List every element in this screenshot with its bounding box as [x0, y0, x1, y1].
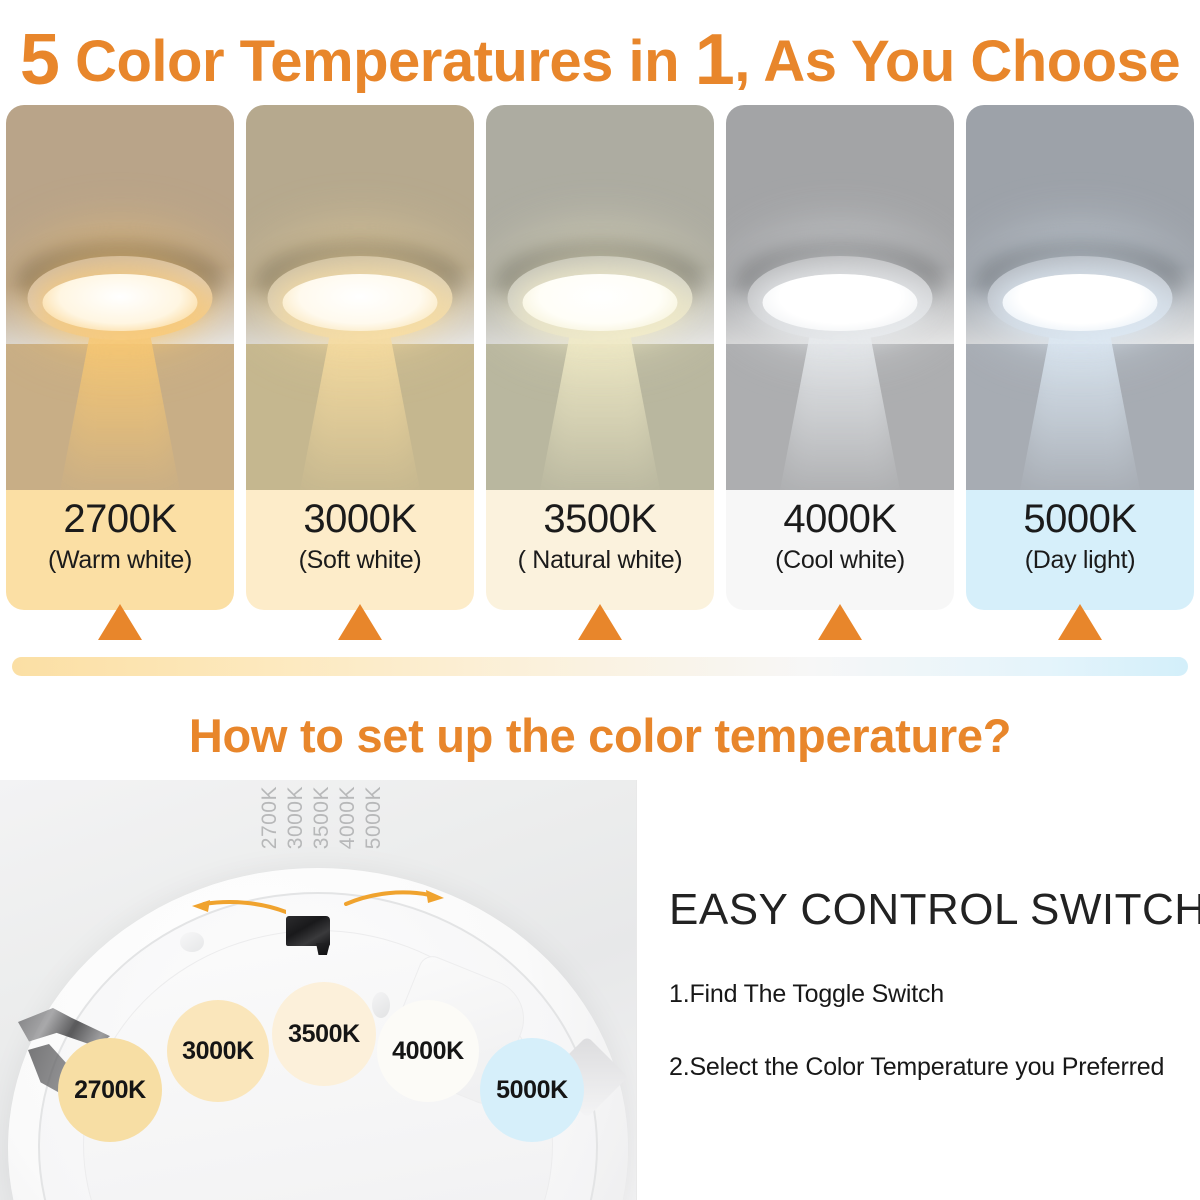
card-label-3000k: 3000K(Soft white): [246, 490, 474, 610]
ceiling-light-fixture: [748, 256, 933, 340]
infographic-page: 5 Color Temperatures in 1, As You Choose…: [0, 0, 1200, 1200]
card-photo-3500k: [486, 105, 714, 490]
kelvin-scale-label-3000k: 3000K: [284, 786, 308, 849]
card-kelvin-value: 4000K: [783, 496, 896, 542]
fixture-lens: [1002, 274, 1157, 331]
fixture-lens: [762, 274, 917, 331]
card-pointer-triangle: [338, 604, 382, 640]
card-photo-5000k: [966, 105, 1194, 490]
card-kelvin-value: 3000K: [303, 496, 416, 542]
card-pointer-triangle: [578, 604, 622, 640]
card-pointer-triangle: [1058, 604, 1102, 640]
card-kelvin-value: 3500K: [543, 496, 656, 542]
kelvin-scale-label-3500k: 3500K: [310, 786, 334, 849]
card-label-5000k: 5000K(Day light): [966, 490, 1194, 610]
title-one-number: 1: [695, 20, 735, 100]
instruction-step-1: 1.Find The Toggle Switch: [669, 980, 1200, 1009]
card-kelvin-name: (Soft white): [299, 545, 422, 575]
kelvin-badge-3000k[interactable]: 3000K: [167, 1000, 269, 1102]
temperature-card-row: 2700K(Warm white)3000K(Soft white)3500K(…: [0, 105, 1200, 630]
card-label-4000k: 4000K(Cool white): [726, 490, 954, 610]
card-label-3500k: 3500K( Natural white): [486, 490, 714, 610]
page-title: 5 Color Temperatures in 1, As You Choose: [0, 24, 1200, 96]
screw-boss-right: [372, 992, 390, 1018]
toggle-switch[interactable]: [286, 916, 334, 956]
card-pointer-triangle: [818, 604, 862, 640]
kelvin-scale-label-4000k: 4000K: [336, 786, 360, 849]
fixture-lens: [282, 274, 437, 331]
kelvin-badge-4000k[interactable]: 4000K: [377, 1000, 479, 1102]
toggle-switch-body: [286, 916, 330, 946]
card-kelvin-name: ( Natural white): [518, 545, 683, 575]
ceiling-light-fixture: [508, 256, 693, 340]
card-pointer-triangle: [98, 604, 142, 640]
arrow-right-icon: [342, 890, 446, 906]
temperature-card-4000k: 4000K(Cool white): [726, 105, 954, 610]
instructions-pane: EASY CONTROL SWITCH 1.Find The Toggle Sw…: [636, 780, 1200, 1200]
kelvin-badge-2700k[interactable]: 2700K: [58, 1038, 162, 1142]
temperature-card-5000k: 5000K(Day light): [966, 105, 1194, 610]
color-spectrum-divider: [12, 657, 1188, 676]
instruction-step-2: 2.Select the Color Temperature you Prefe…: [669, 1053, 1200, 1082]
instructions-title: EASY CONTROL SWITCH: [669, 888, 1200, 932]
temperature-card-2700k: 2700K(Warm white): [6, 105, 234, 610]
card-label-2700k: 2700K(Warm white): [6, 490, 234, 610]
kelvin-scale-labels: 2700K3000K3500K4000K5000K: [258, 786, 386, 849]
title-tail-text: , As You Choose: [734, 29, 1180, 94]
card-photo-3000k: [246, 105, 474, 490]
arrow-left-icon: [190, 900, 286, 916]
temperature-card-3000k: 3000K(Soft white): [246, 105, 474, 610]
card-photo-2700k: [6, 105, 234, 490]
fixture-lens: [522, 274, 677, 331]
ceiling-light-fixture: [988, 256, 1173, 340]
card-kelvin-name: (Warm white): [48, 545, 192, 575]
fixture-lens: [42, 274, 197, 331]
section-heading: How to set up the color temperature?: [0, 712, 1200, 759]
card-kelvin-value: 2700K: [63, 496, 176, 542]
kelvin-scale-label-2700k: 2700K: [258, 786, 282, 849]
toggle-switch-foot: [316, 943, 330, 955]
card-kelvin-value: 5000K: [1023, 496, 1136, 542]
kelvin-badge-3500k[interactable]: 3500K: [272, 982, 376, 1086]
temperature-card-3500k: 3500K( Natural white): [486, 105, 714, 610]
title-lead-number: 5: [20, 20, 60, 100]
screw-boss-left: [180, 932, 204, 952]
card-photo-4000k: [726, 105, 954, 490]
card-kelvin-name: (Day light): [1025, 545, 1136, 575]
ceiling-light-fixture: [268, 256, 453, 340]
card-kelvin-name: (Cool white): [775, 545, 905, 575]
bottom-section: EASY CONTROL SWITCH 1.Find The Toggle Sw…: [0, 780, 1200, 1200]
kelvin-scale-label-5000k: 5000K: [362, 786, 386, 849]
title-mid-text: Color Temperatures in: [59, 29, 694, 94]
kelvin-badge-5000k[interactable]: 5000K: [480, 1038, 584, 1142]
ceiling-light-fixture: [28, 256, 213, 340]
